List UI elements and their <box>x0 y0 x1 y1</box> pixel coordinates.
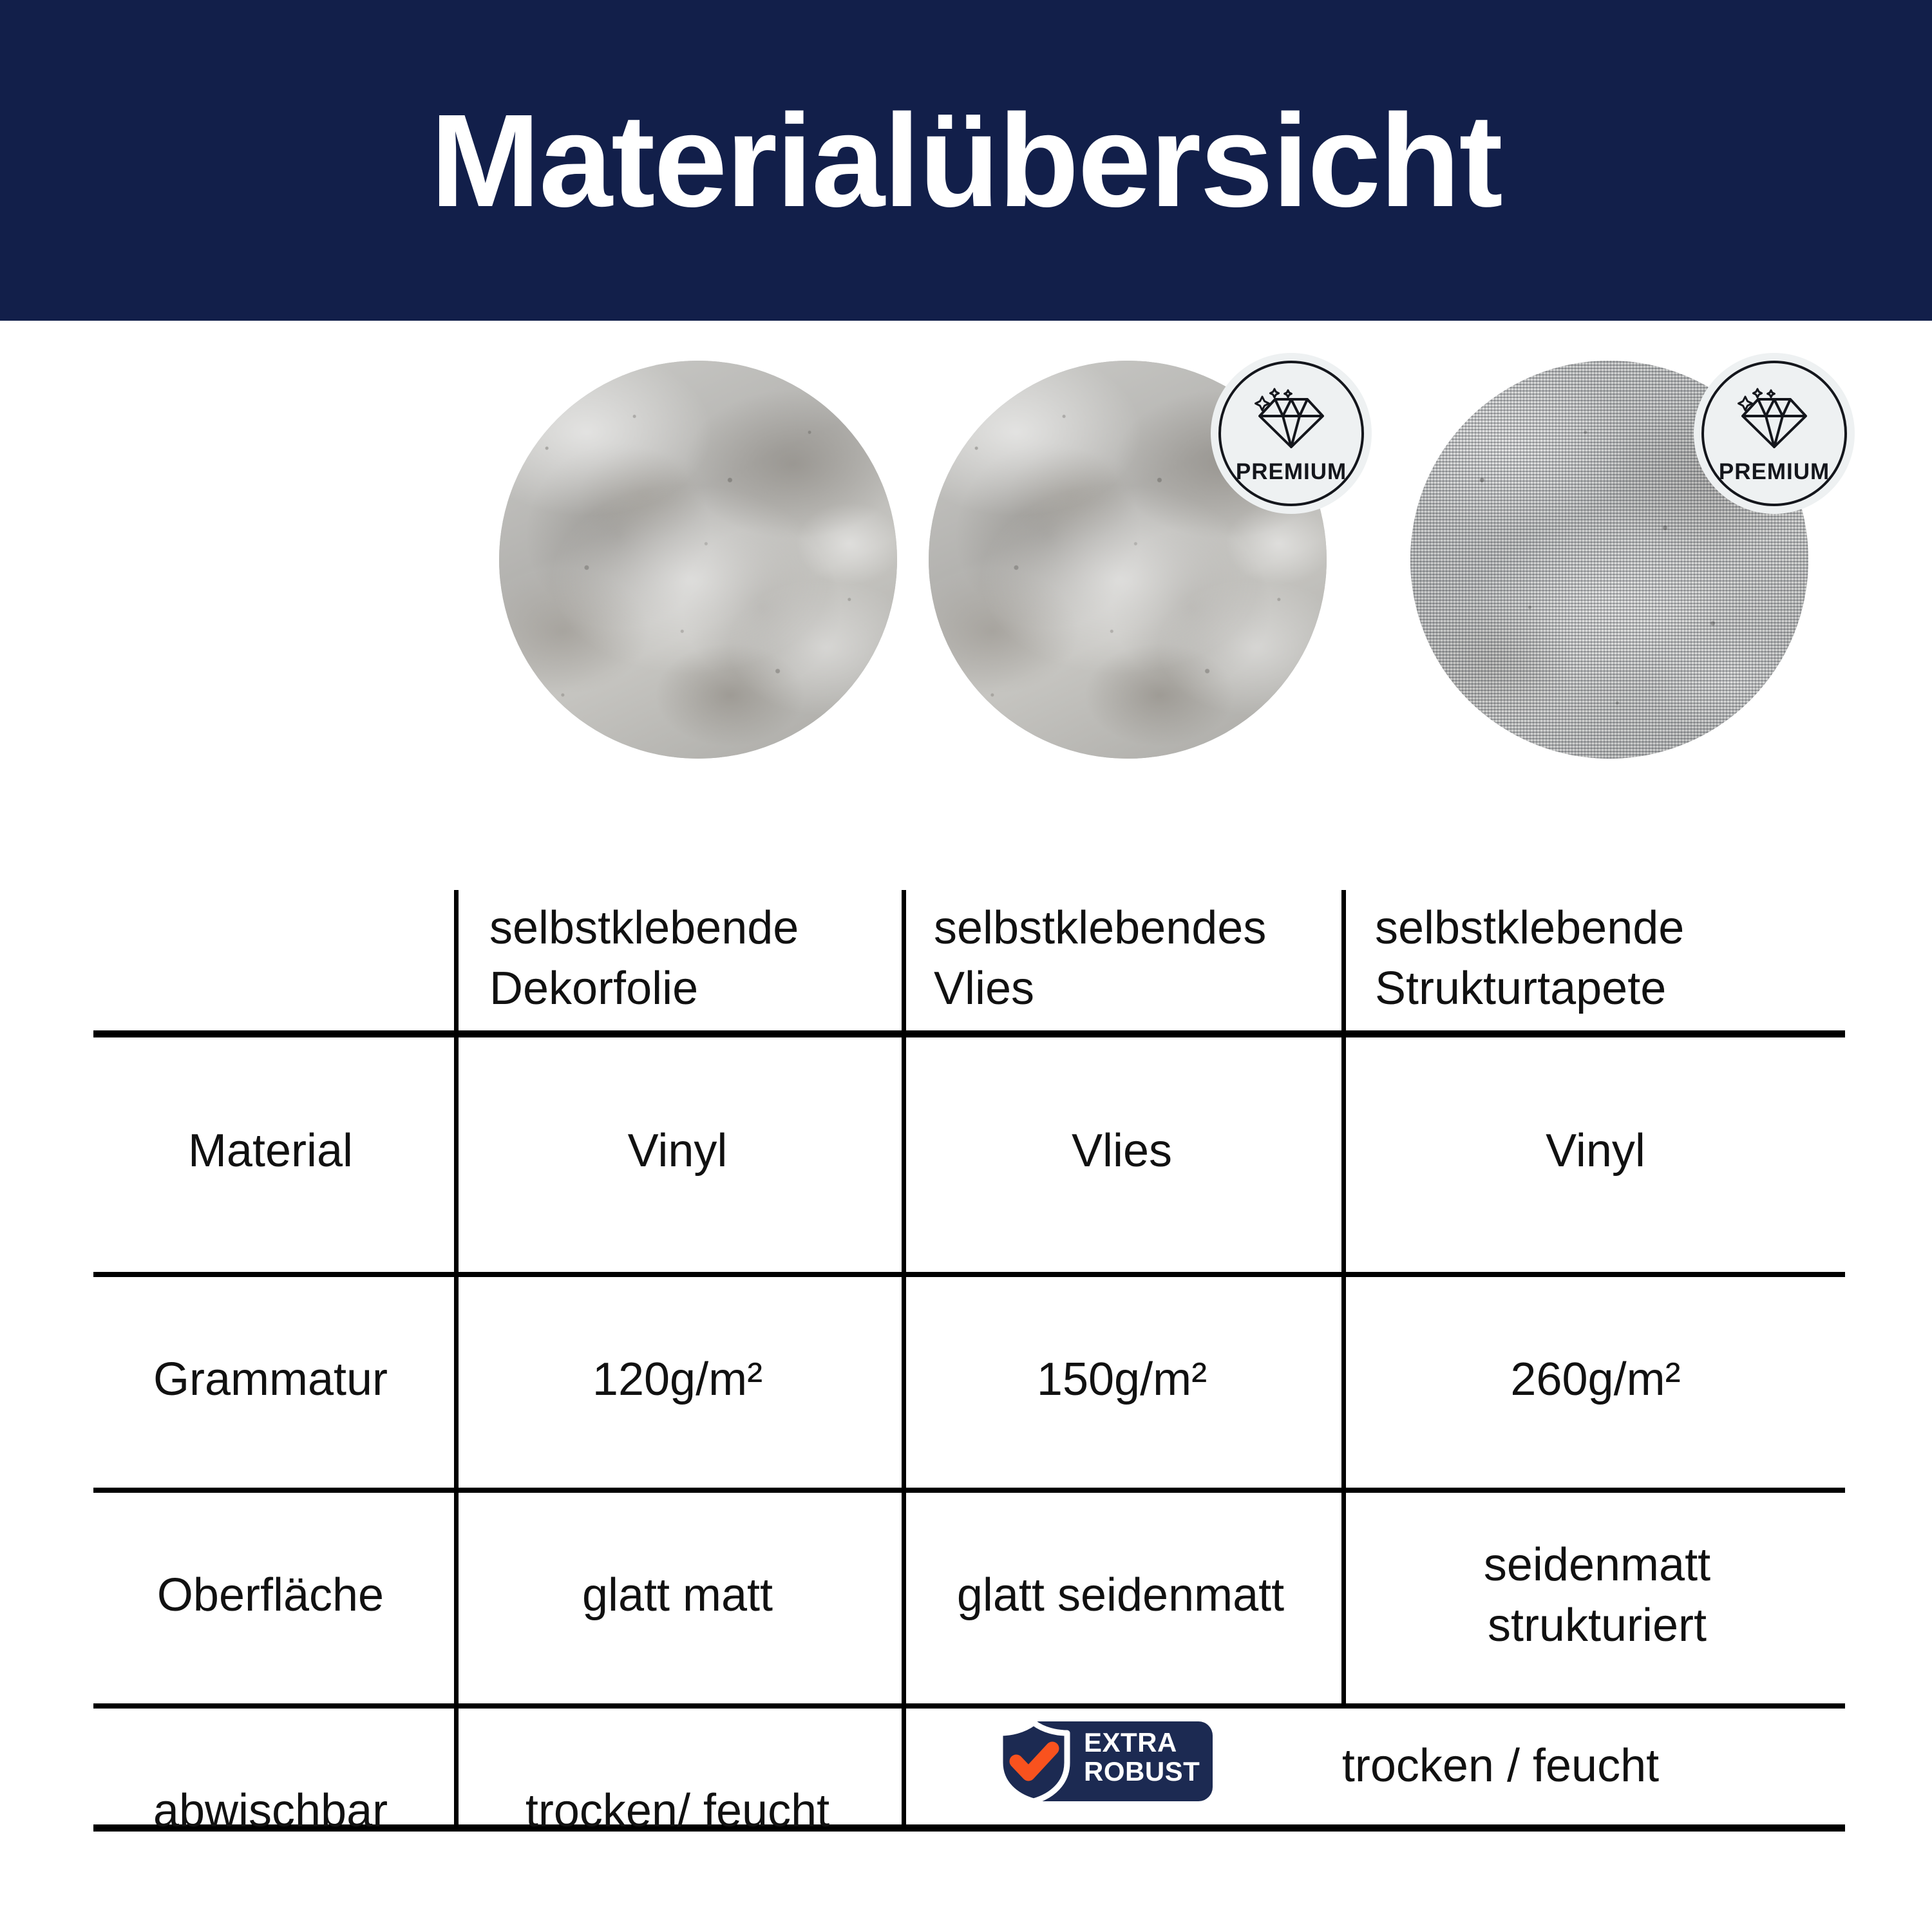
table-rule-3 <box>93 1703 1845 1709</box>
column-header-dekorfolie: selbstklebende Dekorfolie <box>489 898 876 1027</box>
row-label-grammatur: Grammatur <box>93 1277 448 1483</box>
cell-abwischbar-dekorfolie: trocken/ feucht <box>459 1709 896 1915</box>
table-divider-1 <box>454 890 459 1827</box>
cell-material-vlies: Vlies <box>906 1036 1338 1267</box>
diamond-icon <box>1736 388 1812 453</box>
robust-line-2: ROBUST <box>1084 1756 1200 1786</box>
robust-line-1: EXTRA <box>1084 1727 1177 1757</box>
extra-robust-badge: EXTRA ROBUST <box>989 1716 1214 1806</box>
robust-label: EXTRA ROBUST <box>1084 1728 1200 1786</box>
cell-oberflaeche-dekorfolie: glatt matt <box>459 1493 896 1699</box>
cell-material-strukturtapete: Vinyl <box>1346 1036 1845 1267</box>
table-rule-1 <box>93 1272 1845 1277</box>
table-divider-3 <box>1341 890 1346 1708</box>
column-header-vlies: selbstklebendes Vlies <box>934 898 1320 1027</box>
row-label-oberflaeche: Oberfläche <box>93 1493 448 1699</box>
cell-oberflaeche-vlies: glatt seidenmatt <box>940 1493 1301 1699</box>
table-rule-2 <box>93 1488 1845 1493</box>
shield-check-icon <box>989 1716 1079 1810</box>
row-label-material: Material <box>93 1036 448 1267</box>
premium-label: PREMIUM <box>1236 459 1347 485</box>
row-label-abwischbar: abwischbar <box>93 1709 448 1915</box>
material-comparison-table: selbstklebende Dekorfolie selbstklebende… <box>0 0 1932 1932</box>
cell-oberflaeche-strukturtapete: seidenmatt strukturiert <box>1372 1493 1823 1699</box>
cell-material-dekorfolie: Vinyl <box>459 1036 896 1267</box>
diamond-icon <box>1253 388 1329 453</box>
cell-abwischbar-merged: trocken / feucht <box>1224 1709 1777 1824</box>
cell-grammatur-vlies: 150g/m² <box>906 1277 1338 1483</box>
column-header-strukturtapete: selbstklebende Strukturtapete <box>1375 898 1787 1027</box>
cell-grammatur-strukturtapete: 260g/m² <box>1346 1277 1845 1483</box>
premium-label: PREMIUM <box>1719 459 1830 485</box>
table-divider-2 <box>902 890 906 1827</box>
cell-grammatur-dekorfolie: 120g/m² <box>459 1277 896 1483</box>
